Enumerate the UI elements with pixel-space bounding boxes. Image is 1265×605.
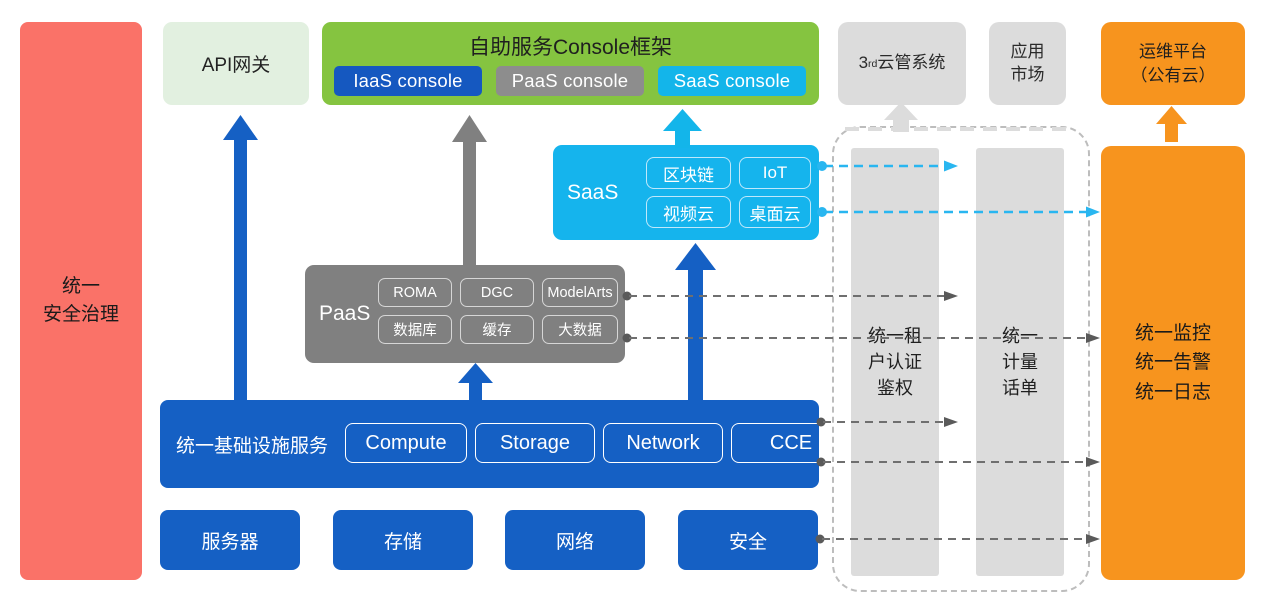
arrow-up-infra-to-api-gateway — [223, 115, 258, 400]
console-frame-title: 自助服务Console框架 — [322, 31, 819, 61]
arrow-up-infra-to-saas — [675, 243, 716, 400]
paas-chip-roma[interactable]: ROMA — [378, 278, 452, 307]
paas-console-chip[interactable]: PaaS console — [496, 66, 644, 96]
unified-infrastructure-label: 统一基础设施服务 — [176, 400, 328, 488]
application-market-box[interactable]: 应用 市场 — [989, 22, 1066, 105]
ops-platform-public-cloud-box[interactable]: 运维平台 （公有云） — [1101, 22, 1245, 105]
paas-block[interactable]: PaaS ROMA DGC ModelArts 数据库 缓存 大数据 — [305, 265, 625, 363]
saas-chip-blockchain[interactable]: 区块链 — [646, 157, 731, 189]
resource-box-network[interactable]: 网络 — [505, 510, 645, 570]
infra-chip-cce[interactable]: CCE — [731, 423, 851, 463]
paas-chip-database[interactable]: 数据库 — [378, 315, 452, 344]
paas-chip-bigdata[interactable]: 大数据 — [542, 315, 618, 344]
unified-security-governance-column[interactable]: 统一 安全治理 — [20, 22, 142, 580]
infra-chip-compute[interactable]: Compute — [345, 423, 467, 463]
saas-block-label: SaaS — [567, 145, 618, 240]
saas-chip-desktop-cloud[interactable]: 桌面云 — [739, 196, 811, 228]
saas-chip-iot[interactable]: IoT — [739, 157, 811, 189]
third-party-label-suffix: 云管系统 — [877, 52, 945, 75]
arrow-up-paas-to-console — [452, 115, 487, 265]
arrow-up-region-to-ops-platform — [1156, 106, 1187, 142]
resource-box-security[interactable]: 安全 — [678, 510, 818, 570]
infra-chip-network[interactable]: Network — [603, 423, 723, 463]
saas-chip-video-cloud[interactable]: 视频云 — [646, 196, 731, 228]
third-party-cloud-mgmt-box[interactable]: 3rd云管系统 — [838, 22, 966, 105]
saas-console-chip[interactable]: SaaS console — [658, 66, 806, 96]
paas-chip-dgc[interactable]: DGC — [460, 278, 534, 307]
iaas-console-chip[interactable]: IaaS console — [334, 66, 482, 96]
infra-chip-storage[interactable]: Storage — [475, 423, 595, 463]
api-gateway-box[interactable]: API网关 — [163, 22, 309, 105]
architecture-diagram: 统一 安全治理 API网关 自助服务Console框架 IaaS console… — [0, 0, 1265, 605]
unified-monitoring-column[interactable]: 统一监控 统一告警 统一日志 — [1101, 146, 1245, 580]
unified-tenant-auth-column[interactable]: 统一租 户认证 鉴权 — [851, 148, 939, 576]
saas-block[interactable]: SaaS 区块链 IoT 视频云 桌面云 — [553, 145, 819, 240]
paas-chip-modelarts[interactable]: ModelArts — [542, 278, 618, 307]
arrow-up-infra-to-paas — [458, 363, 493, 400]
unified-metering-billing-column[interactable]: 统一 计量 话单 — [976, 148, 1064, 576]
paas-block-label: PaaS — [319, 265, 370, 363]
arrow-up-saas-to-console — [663, 109, 702, 148]
third-party-label-prefix: 3 — [859, 52, 868, 75]
paas-chip-cache[interactable]: 缓存 — [460, 315, 534, 344]
self-service-console-frame[interactable]: 自助服务Console框架 IaaS console PaaS console … — [322, 22, 819, 105]
resource-box-server[interactable]: 服务器 — [160, 510, 300, 570]
unified-infrastructure-bar[interactable]: 统一基础设施服务 Compute Storage Network CCE — [160, 400, 819, 488]
resource-box-storage[interactable]: 存储 — [333, 510, 473, 570]
